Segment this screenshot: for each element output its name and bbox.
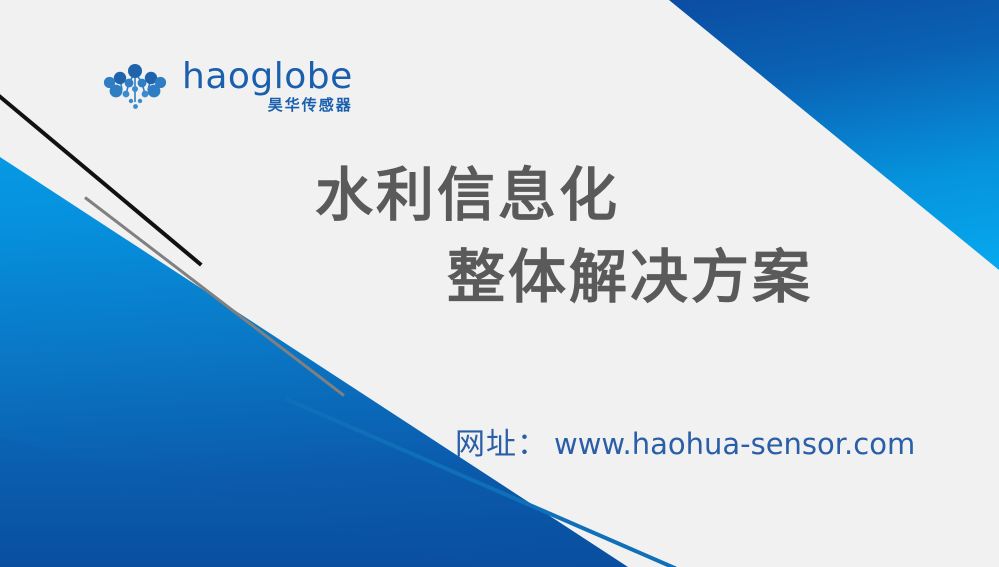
network-nodes-icon bbox=[96, 58, 174, 113]
slide-title-line-2: 整体解决方案 bbox=[0, 237, 999, 319]
logo-text-lockup: haoglobe 昊华传感器 bbox=[182, 59, 353, 113]
logo-wordmark: haoglobe bbox=[182, 59, 353, 95]
website-label: 网址： bbox=[455, 419, 548, 463]
website-line: 网址： www.haohua-sensor.com bbox=[455, 419, 915, 463]
website-url[interactable]: www.haohua-sensor.com bbox=[554, 427, 915, 461]
logo-subtitle-chinese: 昊华传感器 bbox=[268, 98, 353, 113]
title-slide: haoglobe 昊华传感器 水利信息化 整体解决方案 网址： www.haoh… bbox=[0, 0, 999, 567]
slide-title: 水利信息化 整体解决方案 bbox=[0, 155, 999, 320]
company-logo: haoglobe 昊华传感器 bbox=[96, 58, 353, 113]
slide-title-line-1: 水利信息化 bbox=[0, 155, 999, 237]
